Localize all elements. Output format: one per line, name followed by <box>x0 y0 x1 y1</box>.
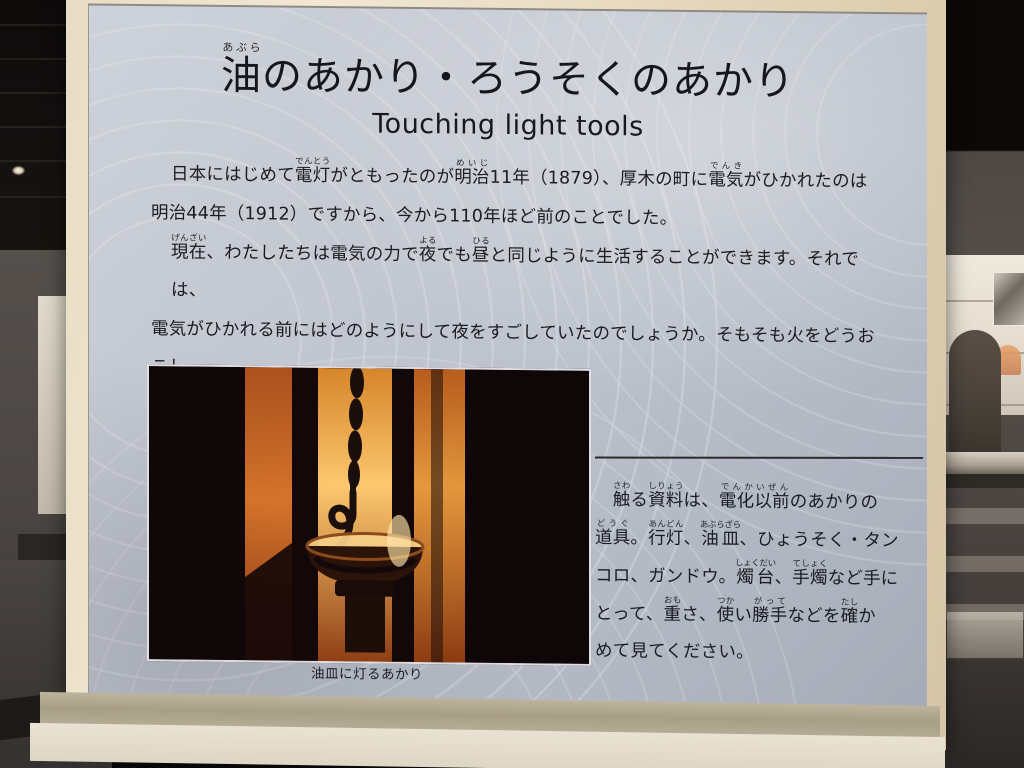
ruby-teshoku: 手燭てしょく <box>792 568 827 588</box>
ruby-andon: 行灯あんどん <box>648 529 683 549</box>
side-line-4: とって、重おもさ、使つかい勝手がってなどを確たしか <box>595 595 925 637</box>
side-column-divider <box>595 457 923 459</box>
furigana-tsuka: つか <box>717 596 735 606</box>
ruby-gatte: 勝手がって <box>752 606 787 626</box>
exhibit-photo <box>147 364 591 666</box>
ruby-aburazara: 油皿あぶらざら <box>701 529 739 549</box>
intro-line-1: 日本にはじめて電灯でんとうがともったのが明治めいじ11年（1879）、厚木の町に… <box>151 155 881 201</box>
intro-line-2: 明治44年（1912）ですから、今から110年ほど前のことでした。 <box>151 194 881 240</box>
side-line-3: コロ、ガンドウ。燭台しょくだい、手燭てしょくなど手に <box>595 557 925 599</box>
title-ruby-abura: 油あぶら <box>221 53 262 99</box>
ruby-hiru: 昼ひる <box>472 246 490 266</box>
ruby-tsukai: 使つか <box>717 605 735 625</box>
furigana-dento: でんとう <box>295 157 330 167</box>
furigana-gatte: がって <box>752 597 787 607</box>
gallery-floor-right <box>935 660 1024 768</box>
panel-title-japanese: 油あぶらのあかり・ろうそくのあかり <box>89 39 927 104</box>
ruby-denka: 電化でんか <box>719 491 754 511</box>
title-kanji-oil: 油 <box>221 53 262 99</box>
sign-panel-board: 油あぶらのあかり・ろうそくのあかり Touching light tools 日… <box>88 3 927 720</box>
furigana-denki: でんき <box>708 161 743 171</box>
panel-subtitle-english: Touching light tools <box>89 105 927 145</box>
title-furigana-abura: あぶら <box>221 41 262 54</box>
ruby-genzai: 現在げんざい <box>171 242 206 262</box>
furigana-omo: おも <box>664 596 682 606</box>
ruby-shiryou: 資料しりょう <box>648 491 683 511</box>
furigana-shiryou: しりょう <box>648 482 683 492</box>
ruby-yoru: 夜よる <box>419 245 437 265</box>
title-rest: のあかり・ろうそくのあかり <box>262 53 795 105</box>
ruby-denki: 電気でんき <box>708 170 743 190</box>
ceiling-spotlight-left <box>12 166 25 175</box>
furigana-yoru: よる <box>419 236 437 246</box>
ruby-dento: 電灯でんとう <box>295 166 330 186</box>
furigana-andon: あんどん <box>648 520 683 530</box>
panel-title-block: 油あぶらのあかり・ろうそくのあかり Touching light tools <box>89 39 927 145</box>
ruby-tashika: 確たし <box>841 607 859 627</box>
intro-line-3: 現在げんざい、わたしたちは電気の力で夜よるでも昼ひると同じように生活することがで… <box>151 233 881 317</box>
oil-lamp-photo-render <box>149 366 589 664</box>
ruby-sawaru: 触さわ <box>613 490 631 510</box>
furigana-izen: いぜん <box>754 483 789 493</box>
side-line-2: 道具どうぐ。行灯あんどん、油皿あぶらざら、ひょうそく・タン <box>595 519 925 561</box>
furigana-aburazara: あぶらざら <box>700 520 741 530</box>
exhibit-table <box>937 452 1024 474</box>
furigana-sawa: さわ <box>613 481 631 491</box>
side-line-1: 触さわる資料しりょうは、電化でんか以前いぜんのあかりの <box>595 481 925 523</box>
furigana-shokudai: しょくだい <box>735 558 776 568</box>
ruby-dougu: 道具どうぐ <box>595 528 630 548</box>
ruby-omosa: 重おも <box>664 605 682 625</box>
furigana-teshoku: てしょく <box>792 559 827 569</box>
exhibit-stone-object <box>949 330 1001 460</box>
exhibit-photo-caption: 油皿に灯るあかり <box>147 660 587 685</box>
ruby-shokudai: 燭台しょくだい <box>736 567 774 587</box>
panel-side-text: 触さわる資料しりょうは、電化でんか以前いぜんのあかりの 道具どうぐ。行灯あんどん… <box>595 481 925 674</box>
furigana-hiru: ひる <box>472 237 490 247</box>
furigana-dougu: どうぐ <box>595 519 630 529</box>
furigana-meiji: めいじ <box>454 158 489 168</box>
framed-picture-right <box>993 272 1024 326</box>
ruby-meiji: 明治めいじ <box>454 167 489 187</box>
furigana-denka: でんか <box>719 482 754 492</box>
side-line-5: めて見てください。 <box>595 633 925 674</box>
ruby-izen: 以前いぜん <box>754 492 789 512</box>
museum-exhibit-scene: 油あぶらのあかり・ろうそくのあかり Touching light tools 日… <box>0 0 1024 768</box>
furigana-genzai: げんざい <box>171 233 206 243</box>
furigana-tashi: たし <box>841 598 859 608</box>
gallery-right-view <box>935 0 1024 768</box>
exhibit-cart <box>947 612 1023 658</box>
